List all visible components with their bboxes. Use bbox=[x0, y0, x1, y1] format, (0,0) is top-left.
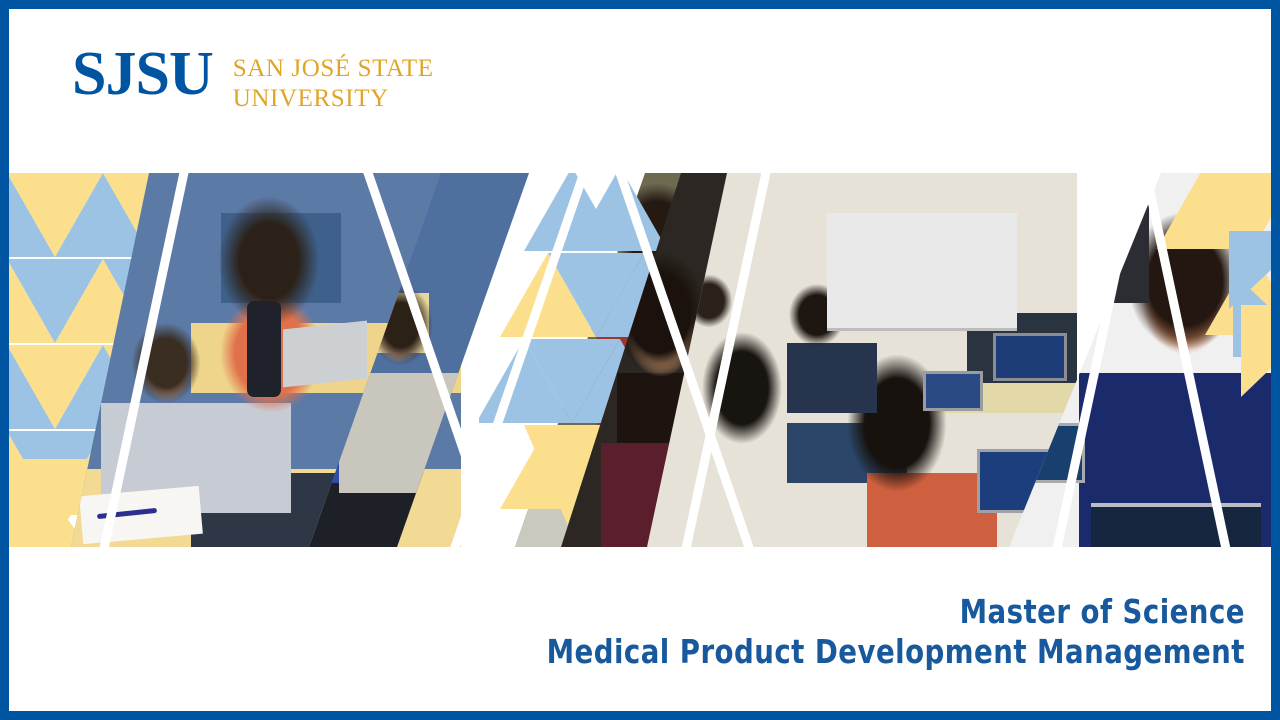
frame-border-left bbox=[0, 0, 9, 720]
pattern-triangle bbox=[1241, 305, 1271, 397]
sjsu-wordmark-line1: SAN JOSÉ STATE bbox=[233, 54, 434, 84]
slide-canvas: SJSU SAN JOSÉ STATE UNIVERSITY bbox=[0, 0, 1280, 720]
laptop-screen bbox=[923, 371, 983, 411]
water-bottle bbox=[247, 301, 281, 397]
program-degree-title: Master of Science bbox=[547, 592, 1245, 632]
program-name-title: Medical Product Development Management bbox=[547, 632, 1245, 672]
frame-border-right bbox=[1271, 0, 1280, 720]
sjsu-logo: SJSU SAN JOSÉ STATE UNIVERSITY bbox=[72, 46, 434, 113]
sjsu-wordmark: SAN JOSÉ STATE UNIVERSITY bbox=[233, 54, 434, 113]
photo-collage-band bbox=[9, 173, 1271, 547]
triangle-pattern-right bbox=[1129, 173, 1271, 547]
frame-border-bottom bbox=[0, 711, 1280, 720]
sjsu-logo-mark: SJSU bbox=[72, 46, 213, 103]
program-title-block: Master of Science Medical Product Develo… bbox=[494, 592, 1245, 672]
frame-border-top bbox=[0, 0, 1280, 9]
laptop-screen bbox=[993, 333, 1067, 381]
laptop-silver bbox=[283, 321, 367, 388]
sjsu-wordmark-line2: UNIVERSITY bbox=[233, 84, 434, 114]
